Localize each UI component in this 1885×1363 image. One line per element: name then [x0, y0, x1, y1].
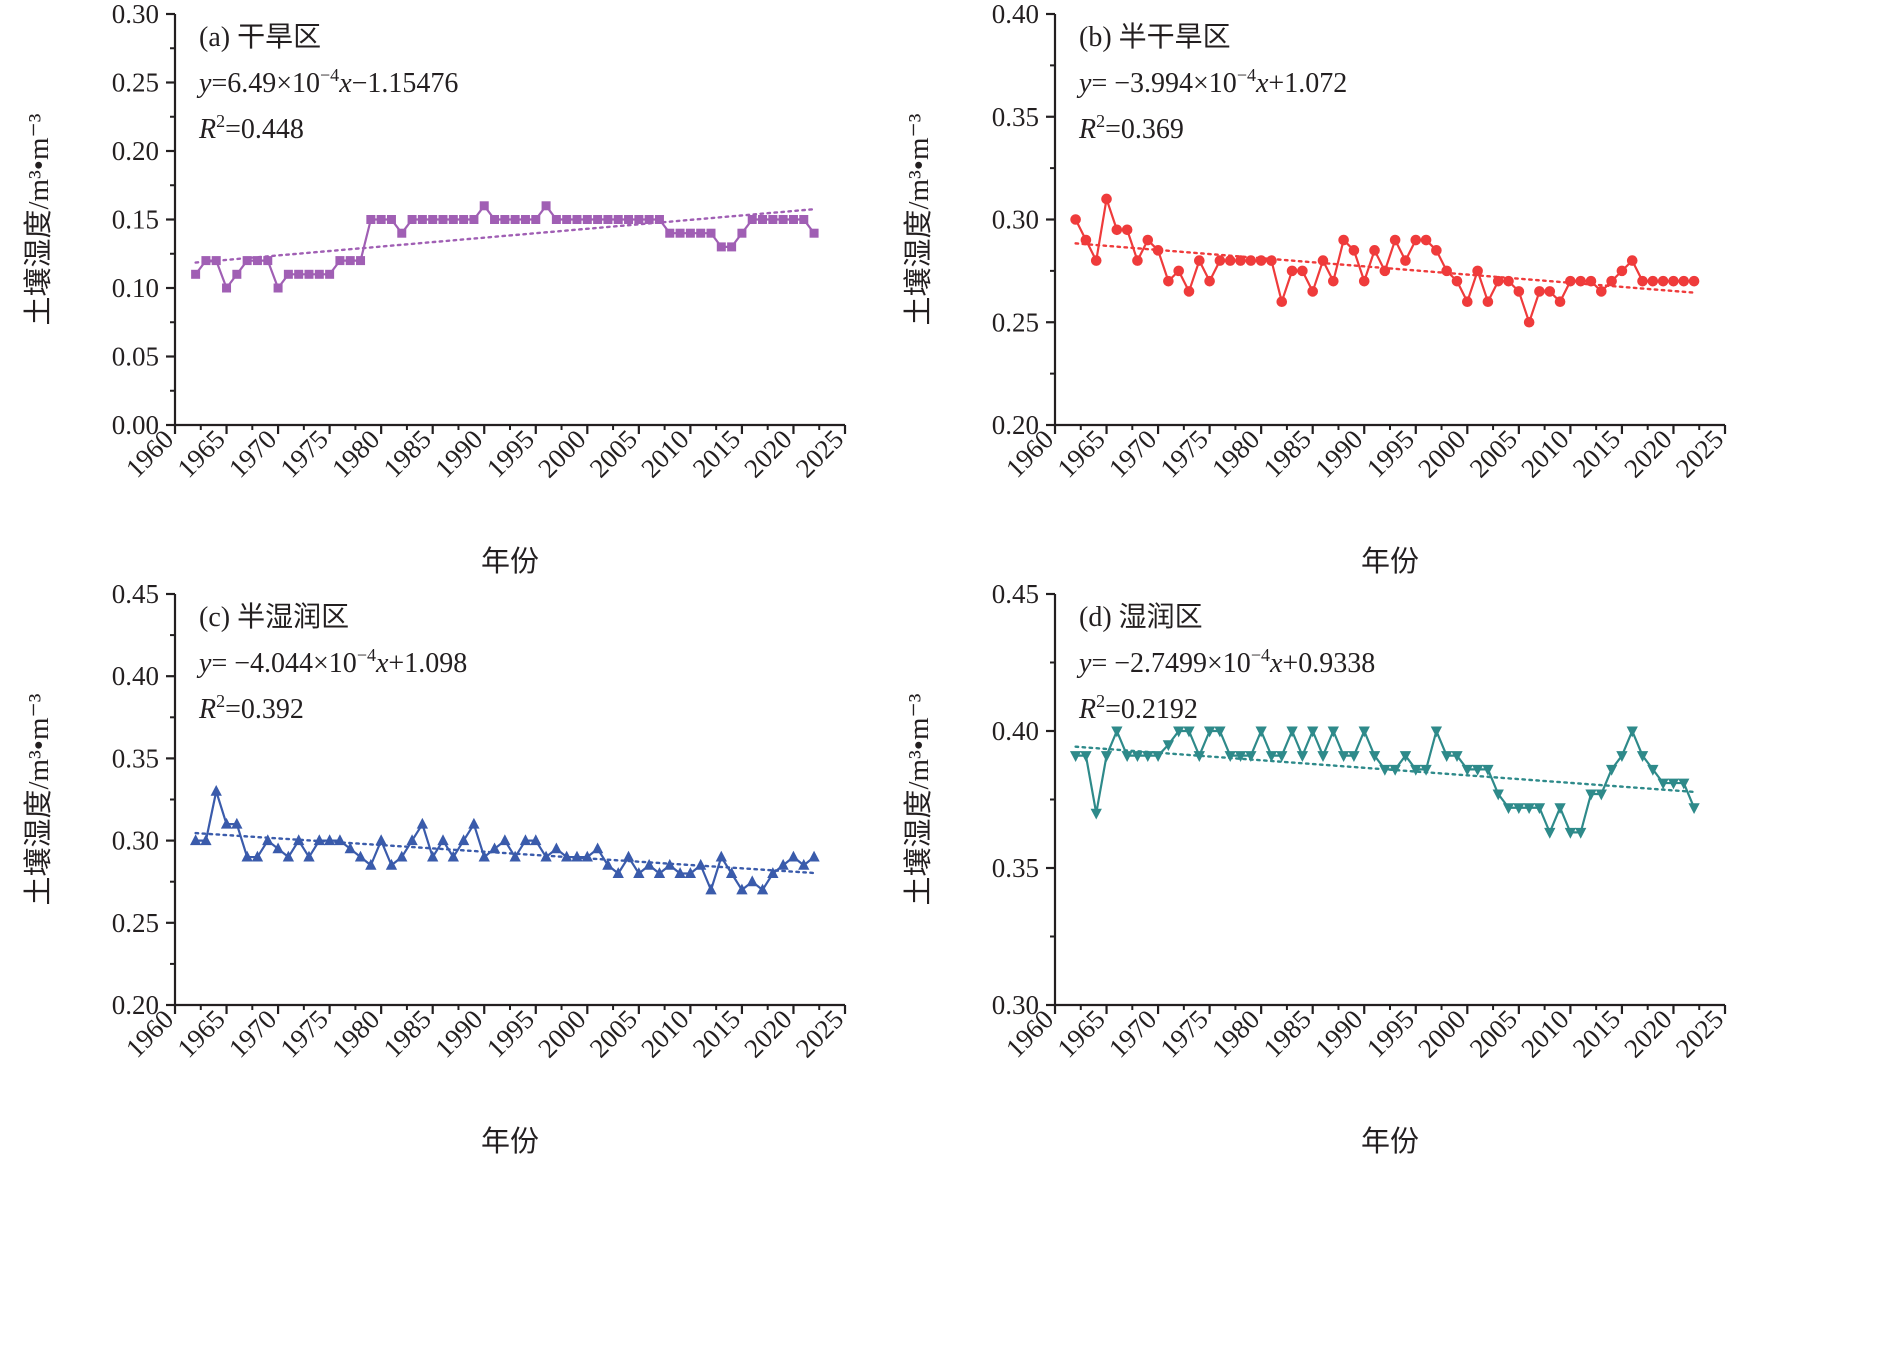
x-tick-label: 2010: [635, 424, 694, 483]
y-axis-title: 土壤湿度/m³•m⁻³: [22, 693, 55, 905]
x-tick-label: 1990: [429, 424, 488, 483]
r-squared-label: R2=0.369: [1078, 111, 1184, 145]
data-point-marker: [264, 257, 272, 265]
x-tick-label: 1975: [274, 1004, 333, 1063]
data-point-marker: [284, 270, 292, 278]
data-point-marker: [192, 270, 200, 278]
data-point-marker: [408, 216, 416, 224]
x-tick-label: 1990: [429, 1004, 488, 1063]
x-tick-label: 1970: [1103, 424, 1162, 483]
data-point-marker: [376, 835, 386, 844]
y-tick-label: 0.25: [112, 908, 159, 938]
regression-equation: y= −4.044×10−4x+1.098: [196, 645, 467, 679]
data-point-marker: [1256, 727, 1266, 736]
y-tick-label: 0.25: [992, 307, 1039, 337]
data-point-marker: [1679, 276, 1689, 286]
y-tick-label: 0.05: [112, 342, 159, 372]
data-point-marker: [593, 844, 603, 853]
x-tick-label: 1995: [481, 424, 540, 483]
x-tick-label: 1965: [1051, 424, 1110, 483]
data-point-marker: [716, 852, 726, 861]
x-tick-label: 2010: [635, 1004, 694, 1063]
data-point-marker: [1298, 266, 1308, 276]
x-tick-label: 1990: [1309, 424, 1368, 483]
x-tick-label: 2015: [687, 1004, 746, 1063]
data-point-marker: [1648, 276, 1658, 286]
data-point-marker: [336, 257, 344, 265]
data-point-marker: [1225, 256, 1235, 266]
x-tick-label: 2005: [1464, 1004, 1523, 1063]
data-point-marker: [1452, 276, 1462, 286]
data-point-marker: [624, 852, 634, 861]
chart-panel-c: 0.200.250.300.350.400.451960196519701975…: [0, 580, 880, 1163]
data-point-marker: [263, 835, 273, 844]
data-point-marker: [1184, 287, 1194, 297]
data-point-marker: [1318, 752, 1328, 761]
data-point-marker: [800, 216, 808, 224]
data-point-marker: [357, 257, 365, 265]
x-tick-label: 1990: [1309, 1004, 1368, 1063]
figure-root: 0.000.050.100.150.200.250.30196019651970…: [0, 0, 1885, 1363]
data-point-marker: [1298, 752, 1308, 761]
data-point-marker: [1112, 727, 1122, 736]
r-squared-label: R2=0.392: [198, 691, 304, 725]
data-point-marker: [810, 229, 818, 237]
data-point-marker: [1555, 297, 1565, 307]
data-point-marker: [1143, 235, 1153, 245]
data-point-marker: [326, 270, 334, 278]
data-series-line: [1076, 199, 1694, 322]
x-tick-label: 2025: [790, 424, 849, 483]
data-point-marker: [1638, 276, 1648, 286]
data-point-marker: [1493, 276, 1503, 286]
y-tick-label: 0.10: [112, 273, 159, 303]
data-point-marker: [1669, 276, 1679, 286]
data-point-marker: [377, 216, 385, 224]
y-tick-label: 0.30: [992, 205, 1039, 235]
data-point-marker: [1277, 297, 1287, 307]
x-tick-label: 2000: [532, 1004, 591, 1063]
y-tick-label: 0.45: [112, 580, 159, 609]
data-point-marker: [1122, 225, 1132, 235]
chart-svg-c: 0.200.250.300.350.400.451960196519701975…: [0, 580, 880, 1163]
y-tick-label: 0.25: [112, 68, 159, 98]
data-point-marker: [1627, 256, 1637, 266]
data-point-marker: [1432, 246, 1442, 256]
x-tick-label: 1995: [1361, 1004, 1420, 1063]
data-point-marker: [706, 885, 716, 894]
data-point-marker: [1401, 256, 1411, 266]
data-point-marker: [429, 216, 437, 224]
data-point-marker: [1081, 235, 1091, 245]
regression-equation: y= −2.7499×10−4x+0.9338: [1076, 645, 1375, 679]
data-point-marker: [223, 284, 231, 292]
x-tick-label: 1995: [481, 1004, 540, 1063]
panel-title: (b) 半干旱区: [1079, 21, 1231, 53]
data-point-marker: [202, 257, 210, 265]
x-tick-label: 1965: [1051, 1004, 1110, 1063]
data-point-marker: [491, 216, 499, 224]
data-point-marker: [1256, 256, 1266, 266]
data-point-marker: [315, 270, 323, 278]
y-tick-label: 0.35: [992, 102, 1039, 132]
x-axis-title: 年份: [481, 1125, 539, 1158]
x-tick-label: 1975: [274, 424, 333, 483]
x-tick-label: 1985: [1258, 1004, 1317, 1063]
data-point-marker: [809, 852, 819, 861]
x-tick-label: 2010: [1515, 1004, 1574, 1063]
data-point-marker: [1555, 804, 1565, 813]
data-point-marker: [1071, 215, 1081, 225]
data-point-marker: [655, 216, 663, 224]
data-point-marker: [1102, 194, 1112, 204]
x-tick-label: 1970: [223, 424, 282, 483]
data-point-marker: [1102, 752, 1112, 761]
y-tick-label: 0.15: [112, 205, 159, 235]
data-point-marker: [738, 229, 746, 237]
regression-equation: y= −3.994×10−4x+1.072: [1076, 65, 1347, 99]
data-point-marker: [1329, 276, 1339, 286]
data-point-marker: [552, 216, 560, 224]
data-point-marker: [759, 216, 767, 224]
data-point-marker: [1205, 276, 1215, 286]
x-tick-label: 2020: [1618, 1004, 1677, 1063]
data-point-marker: [1586, 276, 1596, 286]
data-point-marker: [398, 229, 406, 237]
x-tick-label: 1985: [1258, 424, 1317, 483]
data-point-marker: [1473, 266, 1483, 276]
data-point-marker: [1133, 256, 1143, 266]
data-point-marker: [645, 216, 653, 224]
x-axis-title: 年份: [481, 545, 539, 578]
data-point-marker: [387, 216, 395, 224]
x-tick-label: 2025: [1670, 1004, 1729, 1063]
x-tick-label: 2025: [1670, 424, 1729, 483]
data-point-marker: [1246, 256, 1256, 266]
data-point-marker: [367, 216, 375, 224]
x-tick-label: 2015: [687, 424, 746, 483]
data-point-marker: [1308, 727, 1318, 736]
data-point-marker: [1091, 256, 1101, 266]
data-point-marker: [511, 216, 519, 224]
data-point-marker: [1545, 828, 1555, 837]
data-point-marker: [1091, 809, 1101, 818]
data-point-marker: [1164, 276, 1174, 286]
data-point-marker: [1689, 804, 1699, 813]
data-point-marker: [728, 243, 736, 251]
data-point-marker: [438, 835, 448, 844]
x-axis-title: 年份: [1361, 1125, 1419, 1158]
data-point-marker: [1432, 727, 1442, 736]
x-tick-label: 2020: [738, 1004, 797, 1063]
data-point-marker: [1370, 246, 1380, 256]
data-point-marker: [439, 216, 447, 224]
data-point-marker: [460, 216, 468, 224]
data-point-marker: [542, 202, 550, 210]
data-point-marker: [789, 216, 797, 224]
x-axis-title: 年份: [1361, 545, 1419, 578]
data-point-marker: [1504, 276, 1514, 286]
data-point-marker: [1153, 246, 1163, 256]
data-point-marker: [1597, 287, 1607, 297]
data-point-marker: [696, 860, 706, 869]
data-point-marker: [295, 270, 303, 278]
data-point-marker: [1195, 256, 1205, 266]
data-point-marker: [1658, 276, 1668, 286]
data-point-marker: [769, 216, 777, 224]
data-point-marker: [1514, 287, 1524, 297]
data-point-marker: [1318, 256, 1328, 266]
data-point-marker: [676, 229, 684, 237]
data-point-marker: [305, 270, 313, 278]
data-point-marker: [1607, 765, 1617, 774]
x-tick-label: 1970: [1103, 1004, 1162, 1063]
x-tick-label: 2000: [1412, 424, 1471, 483]
x-tick-label: 2000: [1412, 1004, 1471, 1063]
data-point-marker: [469, 819, 479, 828]
data-point-marker: [1463, 297, 1473, 307]
data-point-marker: [1421, 235, 1431, 245]
y-tick-label: 0.35: [112, 743, 159, 773]
data-point-marker: [1112, 225, 1122, 235]
x-tick-label: 1980: [1206, 424, 1265, 483]
panel-title: (c) 半湿润区: [199, 601, 349, 633]
x-tick-label: 2005: [1464, 424, 1523, 483]
x-tick-label: 2010: [1515, 424, 1574, 483]
y-tick-label: 0.20: [112, 136, 159, 166]
data-point-marker: [789, 852, 799, 861]
data-point-marker: [1236, 256, 1246, 266]
data-point-marker: [449, 216, 457, 224]
data-point-marker: [707, 229, 715, 237]
x-tick-label: 1970: [223, 1004, 282, 1063]
data-point-marker: [1380, 266, 1390, 276]
r-squared-label: R2=0.2192: [1078, 691, 1198, 725]
data-point-marker: [1607, 276, 1617, 286]
data-point-marker: [346, 257, 354, 265]
data-point-marker: [594, 216, 602, 224]
r-squared-label: R2=0.448: [198, 111, 304, 145]
data-point-marker: [1359, 727, 1369, 736]
data-point-marker: [1545, 287, 1555, 297]
y-axis-title: 土壤湿度/m³•m⁻³: [902, 693, 935, 905]
data-point-marker: [501, 216, 509, 224]
x-tick-label: 1985: [378, 424, 437, 483]
data-point-marker: [686, 229, 694, 237]
data-point-marker: [1535, 287, 1545, 297]
y-axis-title: 土壤湿度/m³•m⁻³: [22, 113, 55, 325]
data-point-marker: [625, 216, 633, 224]
data-point-marker: [779, 216, 787, 224]
x-tick-label: 1975: [1154, 1004, 1213, 1063]
data-point-marker: [1287, 727, 1297, 736]
data-point-marker: [1689, 276, 1699, 286]
x-tick-label: 1965: [171, 424, 230, 483]
x-tick-label: 1980: [326, 424, 385, 483]
data-point-marker: [418, 819, 428, 828]
data-point-marker: [614, 216, 622, 224]
x-tick-label: 2020: [738, 424, 797, 483]
y-tick-label: 0.45: [992, 580, 1039, 609]
data-point-marker: [243, 257, 251, 265]
data-point-marker: [521, 216, 529, 224]
data-point-marker: [604, 216, 612, 224]
x-tick-label: 2020: [1618, 424, 1677, 483]
chart-svg-d: 0.300.350.400.45196019651970197519801985…: [880, 580, 1760, 1163]
y-tick-label: 0.30: [112, 826, 159, 856]
data-point-marker: [532, 216, 540, 224]
data-point-marker: [233, 270, 241, 278]
data-point-marker: [583, 216, 591, 224]
data-point-marker: [747, 876, 757, 885]
data-point-marker: [1359, 276, 1369, 286]
data-point-marker: [1576, 276, 1586, 286]
data-point-marker: [573, 216, 581, 224]
data-point-marker: [697, 229, 705, 237]
data-point-marker: [1524, 317, 1534, 327]
x-tick-label: 1965: [171, 1004, 230, 1063]
regression-equation: y=6.49×10−4x−1.15476: [196, 65, 458, 99]
x-tick-label: 2000: [532, 424, 591, 483]
data-point-marker: [635, 216, 643, 224]
x-tick-label: 2025: [790, 1004, 849, 1063]
x-tick-label: 2015: [1567, 1004, 1626, 1063]
data-point-marker: [1442, 266, 1452, 276]
y-tick-label: 0.40: [992, 716, 1039, 746]
data-point-marker: [1174, 266, 1184, 276]
data-point-marker: [470, 216, 478, 224]
data-point-marker: [418, 216, 426, 224]
data-point-marker: [211, 786, 221, 795]
x-tick-label: 1975: [1154, 424, 1213, 483]
chart-svg-b: 0.200.250.300.350.4019601965197019751980…: [880, 0, 1760, 583]
data-point-marker: [212, 257, 220, 265]
data-point-marker: [500, 835, 510, 844]
x-tick-label: 2005: [584, 1004, 643, 1063]
y-tick-label: 0.30: [112, 0, 159, 29]
data-point-marker: [1483, 297, 1493, 307]
data-point-marker: [1339, 235, 1349, 245]
y-tick-label: 0.40: [992, 0, 1039, 29]
data-point-marker: [1215, 256, 1225, 266]
data-point-marker: [1390, 235, 1400, 245]
data-point-marker: [1287, 266, 1297, 276]
data-point-marker: [1267, 256, 1277, 266]
x-tick-label: 2005: [584, 424, 643, 483]
data-point-marker: [552, 844, 562, 853]
y-tick-label: 0.40: [112, 661, 159, 691]
data-point-marker: [1617, 266, 1627, 276]
y-axis-title: 土壤湿度/m³•m⁻³: [902, 113, 935, 325]
data-point-marker: [1349, 246, 1359, 256]
x-tick-label: 2015: [1567, 424, 1626, 483]
data-point-marker: [666, 229, 674, 237]
panel-title: (a) 干旱区: [199, 22, 321, 53]
y-tick-label: 0.35: [992, 853, 1039, 883]
panel-title: (d) 湿润区: [1079, 601, 1203, 633]
x-tick-label: 1995: [1361, 424, 1420, 483]
data-point-marker: [717, 243, 725, 251]
data-point-marker: [1328, 727, 1338, 736]
chart-svg-a: 0.000.050.100.150.200.250.30196019651970…: [0, 0, 880, 583]
data-point-marker: [1411, 235, 1421, 245]
data-point-marker: [1308, 287, 1318, 297]
x-tick-label: 1985: [378, 1004, 437, 1063]
data-point-marker: [1627, 727, 1637, 736]
data-point-marker: [480, 202, 488, 210]
data-point-marker: [274, 284, 282, 292]
data-point-marker: [748, 216, 756, 224]
chart-panel-a: 0.000.050.100.150.200.250.30196019651970…: [0, 0, 880, 583]
x-tick-label: 1980: [1206, 1004, 1265, 1063]
chart-panel-d: 0.300.350.400.45196019651970197519801985…: [880, 580, 1760, 1163]
data-point-marker: [563, 216, 571, 224]
data-point-marker: [253, 257, 261, 265]
chart-panel-b: 0.200.250.300.350.4019601965197019751980…: [880, 0, 1760, 583]
data-point-marker: [1566, 276, 1576, 286]
x-tick-label: 1980: [326, 1004, 385, 1063]
